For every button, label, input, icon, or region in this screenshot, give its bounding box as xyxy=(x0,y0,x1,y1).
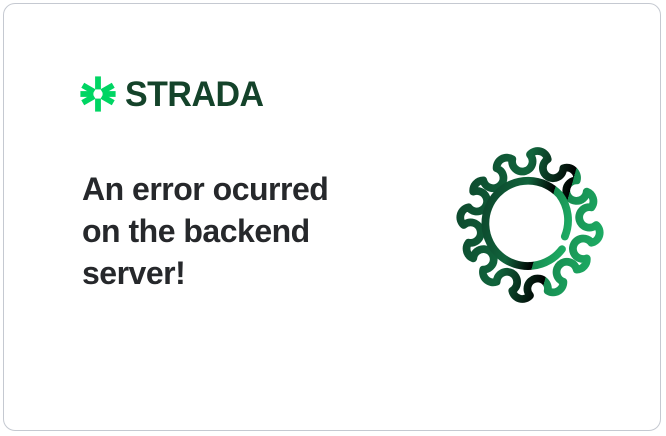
error-message-line: An error ocurred xyxy=(82,168,382,210)
error-message-line: server! xyxy=(82,252,382,294)
error-message-line: on the backend xyxy=(82,210,382,252)
error-message: An error ocurred on the backend server! xyxy=(82,168,382,295)
brand-wordmark: STRADA xyxy=(125,77,264,112)
strada-asterisk-icon xyxy=(80,76,116,112)
brand-logo: STRADA xyxy=(80,74,268,114)
error-card: STRADA An error ocurred on the backend s… xyxy=(3,3,661,431)
gear-icon xyxy=(448,143,612,307)
